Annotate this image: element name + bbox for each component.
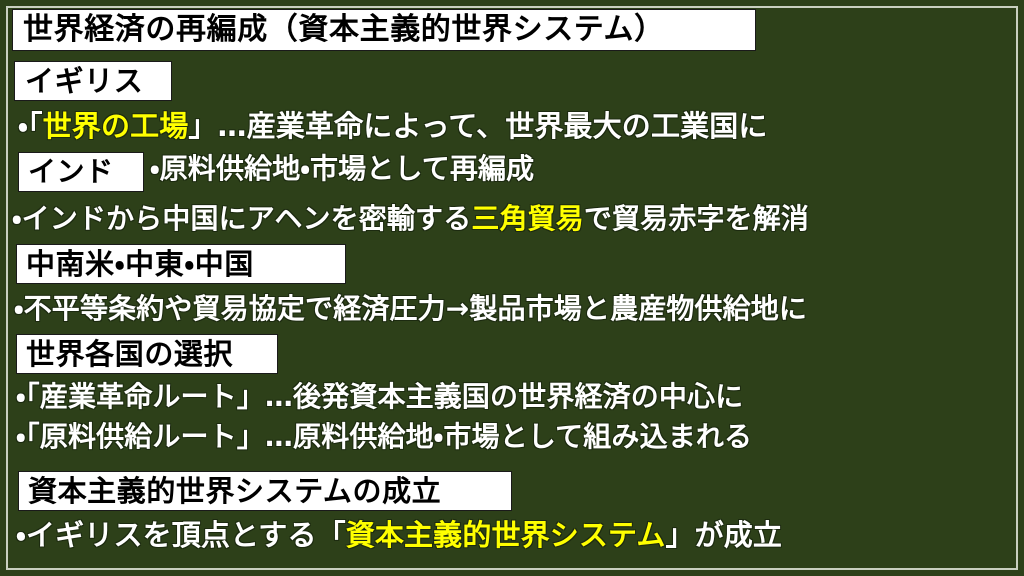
- highlight-triangular-trade: 三角貿易: [471, 202, 584, 235]
- bullet-text-suffix: で貿易赤字を解消: [584, 202, 809, 235]
- section-tag-britain-label: イギリス: [25, 67, 143, 96]
- bullet-unequal-treaties: ・不平等条約や貿易協定で経済圧力→製品市場と農産物供給地に: [14, 295, 807, 323]
- bullet-text-prefix: ・インドから中国にアヘンを密輸する: [12, 202, 471, 235]
- section-tag-regions-label: 中南米・中東・中国: [26, 250, 254, 279]
- bullet-text-suffix: 」…産業革命によって、世界最大の工業国に: [188, 109, 767, 143]
- bullet-industrial-revolution-route: ・「産業革命ルート」…後発資本主義国の世界経済の中心に: [16, 383, 743, 411]
- section-tag-choice-label: 世界各国の選択: [26, 340, 233, 369]
- slide-title-box: 世界経済の再編成（資本主義的世界システム）: [12, 9, 756, 51]
- bullet-text: ・不平等条約や貿易協定で経済圧力→製品市場と農産物供給地に: [14, 292, 807, 325]
- section-tag-capitalist-world-system: 資本主義的世界システムの成立: [18, 471, 512, 511]
- page-title: 世界経済の再編成（資本主義的世界システム）: [23, 15, 665, 45]
- section-tag-global-choices: 世界各国の選択: [16, 334, 278, 374]
- section-tag-india: インド: [18, 152, 144, 192]
- bullet-text: ・「産業革命ルート」…後発資本主義国の世界経済の中心に: [16, 380, 743, 413]
- bullet-text-prefix: ・イギリスを頂点とする「: [16, 518, 346, 552]
- bullet-workshop-of-the-world: ・「世界の工場」…産業革命によって、世界最大の工業国に: [18, 112, 768, 141]
- bullet-raw-material-supply-route: ・「原料供給ルート」…原料供給地・市場として組み込まれる: [16, 423, 752, 451]
- bullet-text: ・原料供給地・市場として再編成: [150, 152, 534, 185]
- section-tag-britain: イギリス: [14, 61, 172, 101]
- highlight-capitalist-world-system: 資本主義的世界システム: [346, 518, 666, 552]
- section-tag-latin-america-middle-east-china: 中南米・中東・中国: [16, 244, 346, 284]
- highlight-workshop-of-the-world: 世界の工場: [43, 109, 189, 143]
- slide-canvas: 世界経済の再編成（資本主義的世界システム） イギリス ・「世界の工場」…産業革命…: [0, 0, 1024, 576]
- section-tag-system-label: 資本主義的世界システムの成立: [28, 477, 441, 506]
- bullet-britain-at-apex: ・イギリスを頂点とする「資本主義的世界システム」が成立: [16, 521, 782, 550]
- bullet-india-raw-materials: ・原料供給地・市場として再編成: [150, 155, 534, 183]
- bullet-text-suffix: 」が成立: [665, 518, 782, 552]
- bullet-text: ・「原料供給ルート」…原料供給地・市場として組み込まれる: [16, 420, 752, 453]
- bullet-opium-triangular-trade: ・インドから中国にアヘンを密輸する三角貿易で貿易赤字を解消: [12, 205, 809, 233]
- section-tag-india-label: インド: [28, 158, 114, 186]
- bullet-text-prefix: ・「: [18, 109, 43, 143]
